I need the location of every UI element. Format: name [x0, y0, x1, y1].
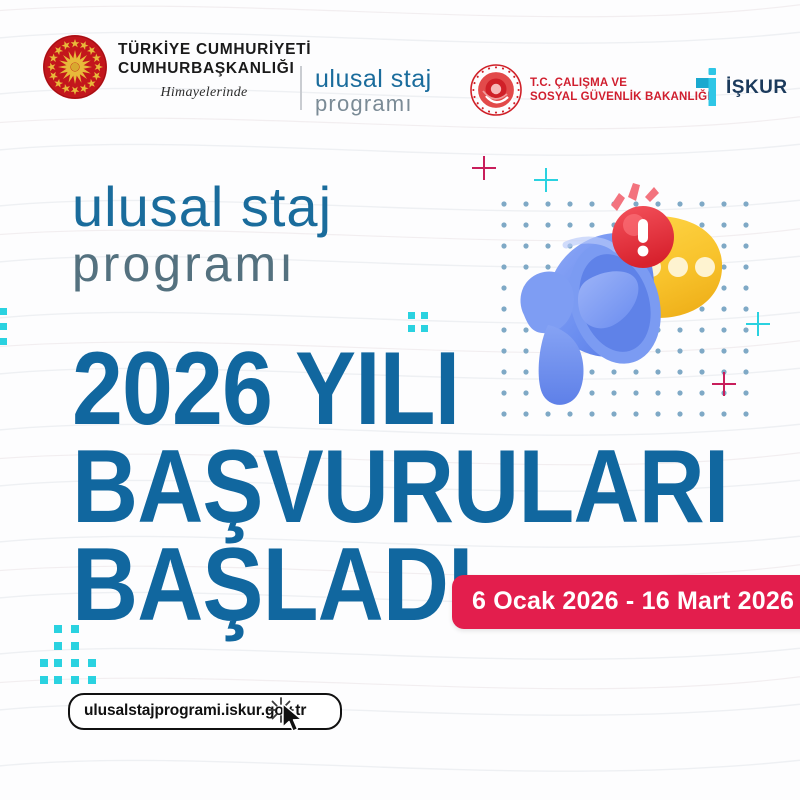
headline-line2: BAŞVURULARI — [72, 438, 728, 536]
ministry-logo-group: T.C. ÇALIŞMA VE SOSYAL GÜVENLİK BAKANLIĞ… — [470, 64, 711, 116]
mouse-cursor-icon — [281, 703, 307, 733]
header-logo-bar: TÜRKİYE CUMHURİYETİ CUMHURBAŞKANLIĞI Him… — [0, 30, 800, 110]
presidency-patronage-text: Himayelerinde — [118, 85, 290, 101]
iskur-label: İŞKUR — [726, 77, 788, 99]
presidency-line2: CUMHURBAŞKANLIĞI — [118, 59, 311, 78]
program-name-line1: ulusal staj — [72, 178, 332, 236]
presidency-line1: TÜRKİYE CUMHURİYETİ — [118, 40, 311, 59]
usp-header-logo-line1: ulusal staj — [315, 66, 432, 92]
cyan-bars-left-decoration — [0, 308, 16, 378]
iskur-logo-group: İŞKUR — [694, 68, 788, 108]
ministry-line2: SOSYAL GÜVENLİK BAKANLIĞI — [530, 90, 711, 104]
program-name-block: ulusal staj programı — [72, 178, 332, 292]
header-divider — [300, 66, 302, 110]
ministry-emblem-icon — [470, 64, 522, 116]
presidency-logo-group: TÜRKİYE CUMHURİYETİ CUMHURBAŞKANLIĞI Him… — [42, 34, 311, 101]
application-dates-badge: 6 Ocak 2026 - 16 Mart 2026 — [452, 575, 800, 629]
presidential-seal-icon — [42, 34, 108, 100]
plus-mark-cyan-right-icon — [746, 312, 770, 336]
usp-header-logo: ulusal staj programı — [315, 66, 432, 116]
iskur-figure-icon — [694, 68, 720, 108]
usp-header-logo-line2: programı — [315, 92, 432, 116]
ministry-line1: T.C. ÇALIŞMA VE — [530, 76, 711, 90]
headline-line1: 2026 YILI — [72, 340, 728, 438]
poster-canvas: TÜRKİYE CUMHURİYETİ CUMHURBAŞKANLIĞI Him… — [0, 0, 800, 800]
program-name-line2: programı — [72, 236, 332, 292]
